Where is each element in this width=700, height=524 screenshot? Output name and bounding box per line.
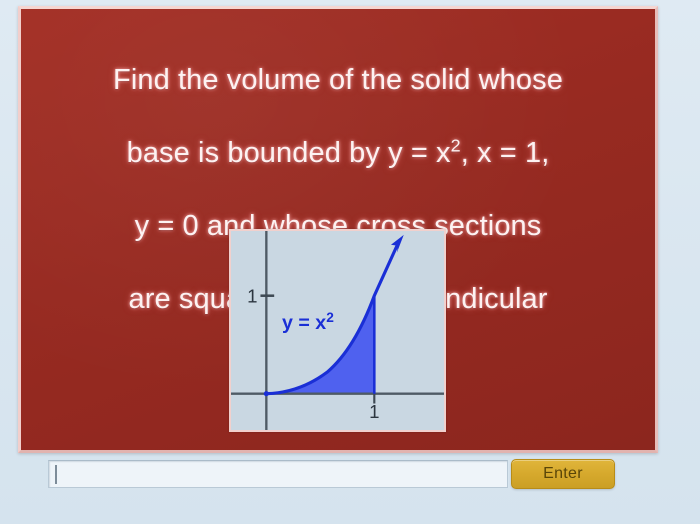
parabola-graph-svg: 1 1 y = x2 [231,231,444,430]
exponent-two: 2 [451,135,461,155]
answer-bar: Enter [0,455,700,524]
y-tick-label: 1 [247,286,257,307]
x-tick-label: 1 [369,401,379,422]
enter-button[interactable]: Enter [511,459,615,489]
text-caret [55,465,57,484]
question-panel: Find the volume of the solid whose base … [18,6,658,453]
graph-figure: 1 1 y = x2 [229,229,446,432]
curve-equation-base: y = x [282,312,326,334]
question-line-2-part-b: , x = 1, [461,137,550,169]
curve-equation-exponent: 2 [326,310,334,325]
question-line-2-part-a: base is bounded by y = x [127,137,451,169]
screen-background: Find the volume of the solid whose base … [0,0,700,524]
graph-background [231,231,444,430]
answer-input[interactable] [48,460,508,488]
origin-point [264,391,269,396]
question-line-2: base is bounded by y = x2, x = 1, [35,135,641,172]
question-line-1: Find the volume of the solid whose [35,62,641,99]
